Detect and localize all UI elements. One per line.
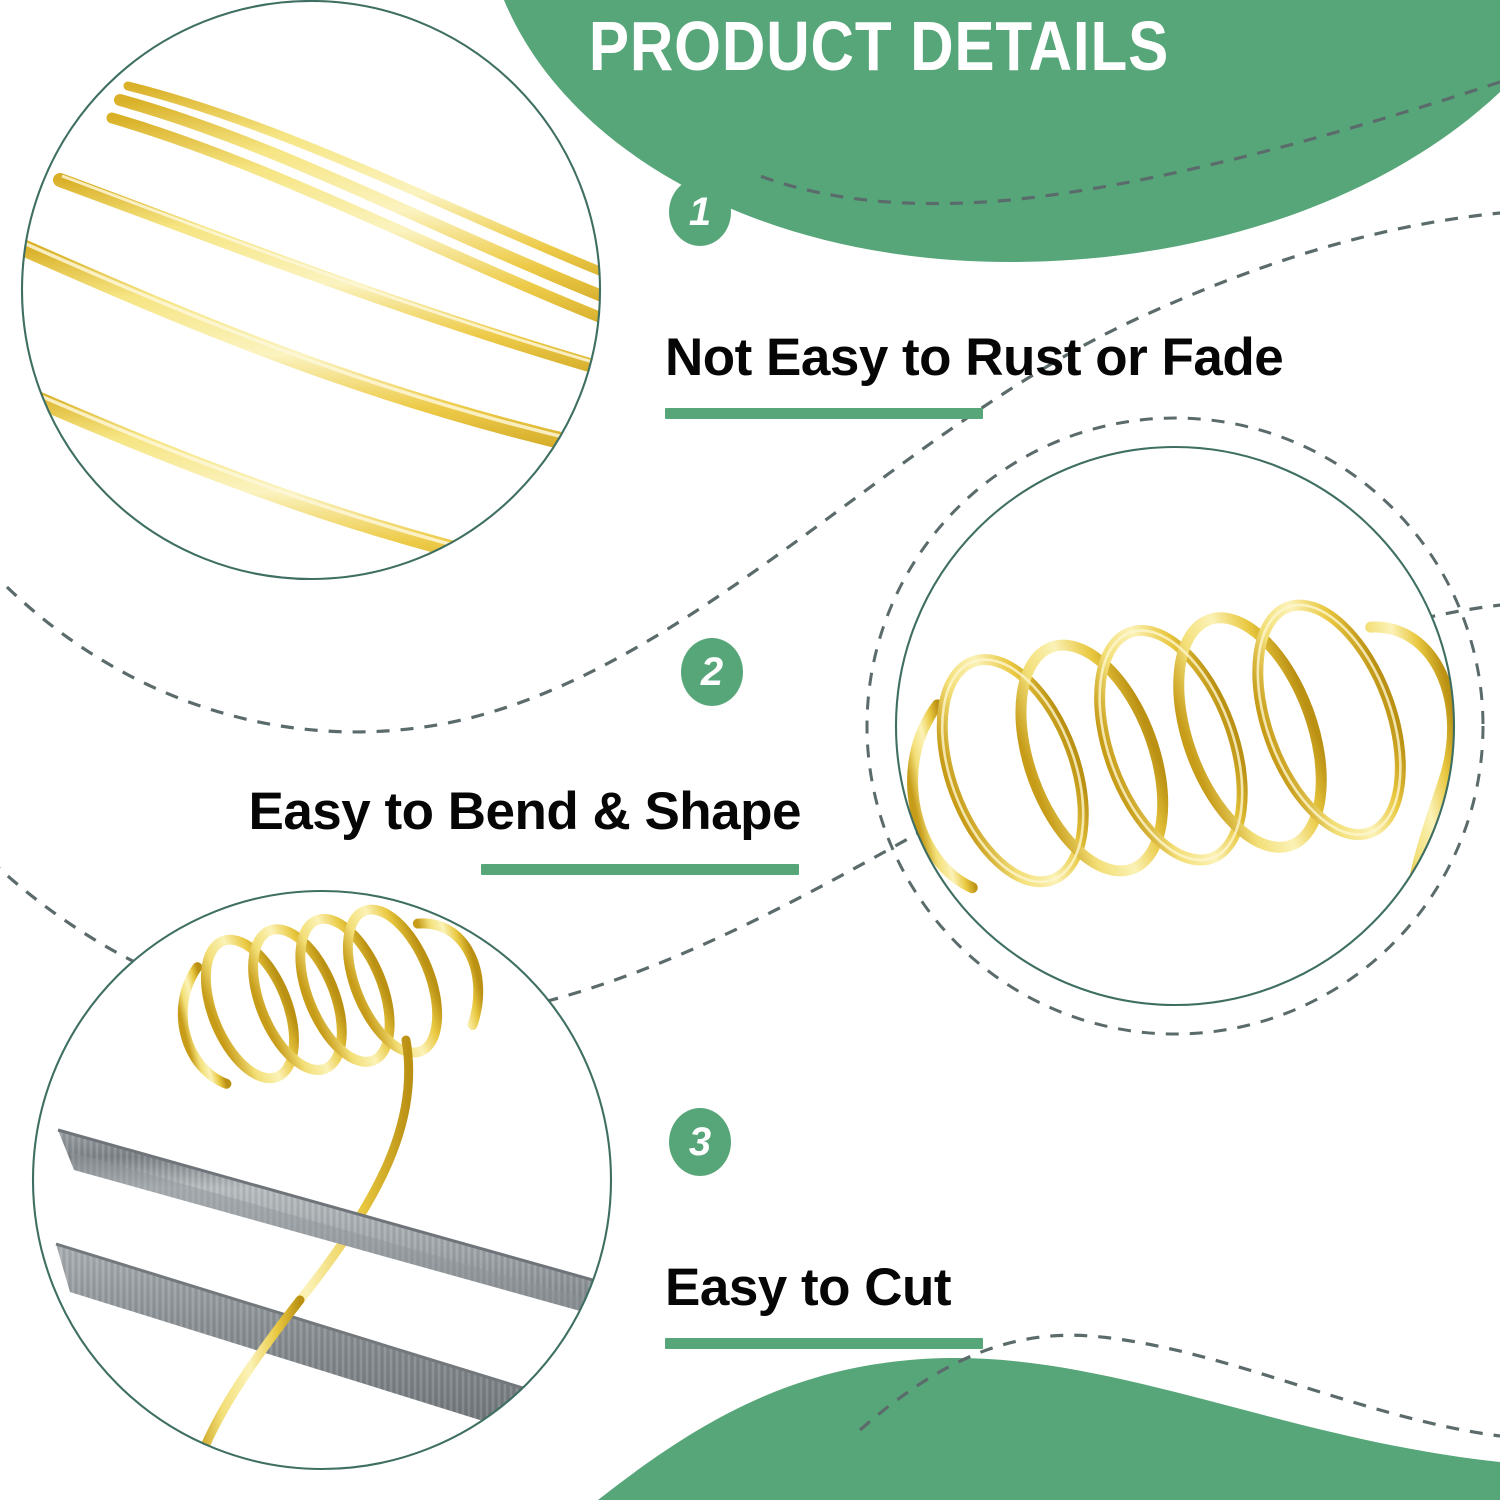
- feature-underline-1: [665, 408, 983, 419]
- feature-title-1: Not Easy to Rust or Fade: [665, 330, 1283, 386]
- feature-underline-3: [665, 1338, 983, 1349]
- feature-item-3: 3 Easy to Cut: [665, 1108, 983, 1349]
- feature-number-badge-1: 1: [669, 178, 731, 246]
- feature-number-1: 1: [689, 192, 711, 232]
- feature-item-1: 1 Not Easy to Rust or Fade: [665, 178, 1283, 419]
- feature-number-3: 3: [689, 1122, 711, 1162]
- infographic-canvas: PRODUCT DETAILS 1 Not Easy to Rust or Fa…: [0, 0, 1500, 1500]
- scissors-cutting-wire-photo: [33, 878, 640, 1470]
- page-title: PRODUCT DETAILS: [105, 6, 1395, 86]
- gold-wire-coil-photo: [886, 447, 1495, 1027]
- feature-number-2: 2: [701, 652, 723, 692]
- feature-number-badge-2: 2: [681, 638, 743, 706]
- feature-title-2: Easy to Bend & Shape: [0, 784, 801, 840]
- feature-underline-2: [481, 864, 799, 875]
- feature-number-badge-3: 3: [669, 1108, 731, 1176]
- feature-title-3: Easy to Cut: [665, 1260, 983, 1316]
- footer-green-wave: [598, 1358, 1500, 1500]
- feature-item-2: 2 Easy to Bend & Shape: [0, 638, 805, 875]
